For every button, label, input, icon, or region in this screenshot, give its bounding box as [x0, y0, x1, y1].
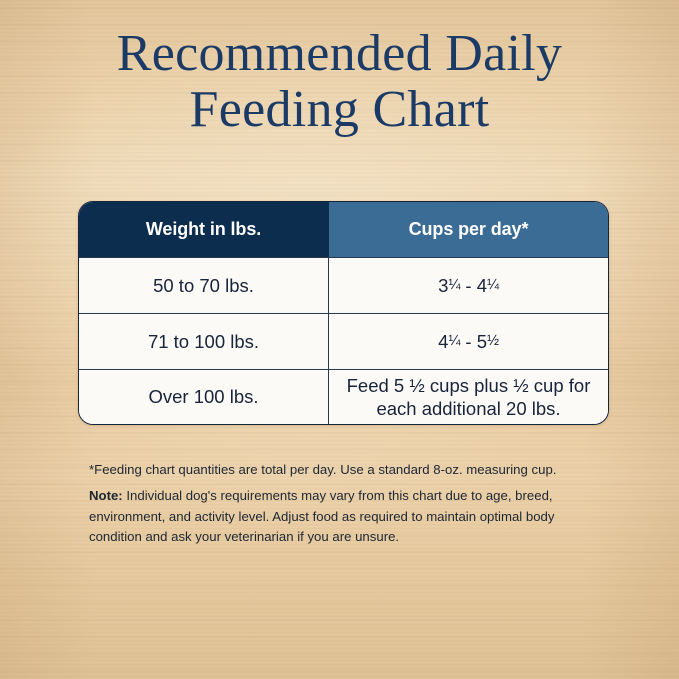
page-title: Recommended Daily Feeding Chart — [0, 26, 679, 138]
footnote-note-body: Individual dog's requirements may vary f… — [89, 488, 554, 544]
cups-value-multiline: Feed 5 ½ cups plus ½ cup for each additi… — [347, 374, 591, 420]
fraction-glyph: ¼ — [448, 277, 460, 293]
whole-number: 4 — [477, 275, 487, 296]
cell-weight-range: 50 to 70 lbs. — [79, 258, 329, 313]
whole-number: 4 — [438, 331, 448, 352]
range-dash: - — [465, 275, 471, 296]
footnotes: *Feeding chart quantities are total per … — [89, 460, 599, 548]
column-header-cups: Cups per day* — [329, 202, 608, 257]
range-dash: - — [465, 331, 471, 352]
cell-cups-per-day: 4¼ - 5½ — [329, 314, 608, 369]
cups-value: 3¼ - 4¼ — [438, 275, 499, 297]
table-row: Over 100 lbs. Feed 5 ½ cups plus ½ cup f… — [79, 369, 608, 424]
fraction-glyph: ¼ — [448, 333, 460, 349]
fraction-glyph: ¼ — [487, 277, 499, 293]
table-row: 71 to 100 lbs. 4¼ - 5½ — [79, 313, 608, 369]
whole-number: 3 — [438, 275, 448, 296]
cups-value-line-2: each additional 20 lbs. — [347, 397, 591, 420]
fraction-glyph: ½ — [487, 333, 499, 349]
cell-cups-per-day: Feed 5 ½ cups plus ½ cup for each additi… — [329, 370, 608, 424]
feeding-chart-table: Weight in lbs. Cups per day* 50 to 70 lb… — [78, 201, 609, 425]
column-header-weight: Weight in lbs. — [79, 202, 329, 257]
cups-value: 4¼ - 5½ — [438, 331, 499, 353]
cell-weight-range: Over 100 lbs. — [79, 370, 329, 424]
table-header-row: Weight in lbs. Cups per day* — [79, 202, 608, 257]
footnote-note: Note: Individual dog's requirements may … — [89, 486, 599, 547]
cell-weight-range: 71 to 100 lbs. — [79, 314, 329, 369]
footnote-asterisk: *Feeding chart quantities are total per … — [89, 460, 599, 480]
whole-number: 5 — [477, 331, 487, 352]
table-row: 50 to 70 lbs. 3¼ - 4¼ — [79, 257, 608, 313]
cell-cups-per-day: 3¼ - 4¼ — [329, 258, 608, 313]
footnote-note-label: Note: — [89, 488, 123, 503]
feeding-chart-page: Recommended Daily Feeding Chart Weight i… — [0, 0, 679, 679]
cups-value-line-1: Feed 5 ½ cups plus ½ cup for — [347, 374, 591, 397]
